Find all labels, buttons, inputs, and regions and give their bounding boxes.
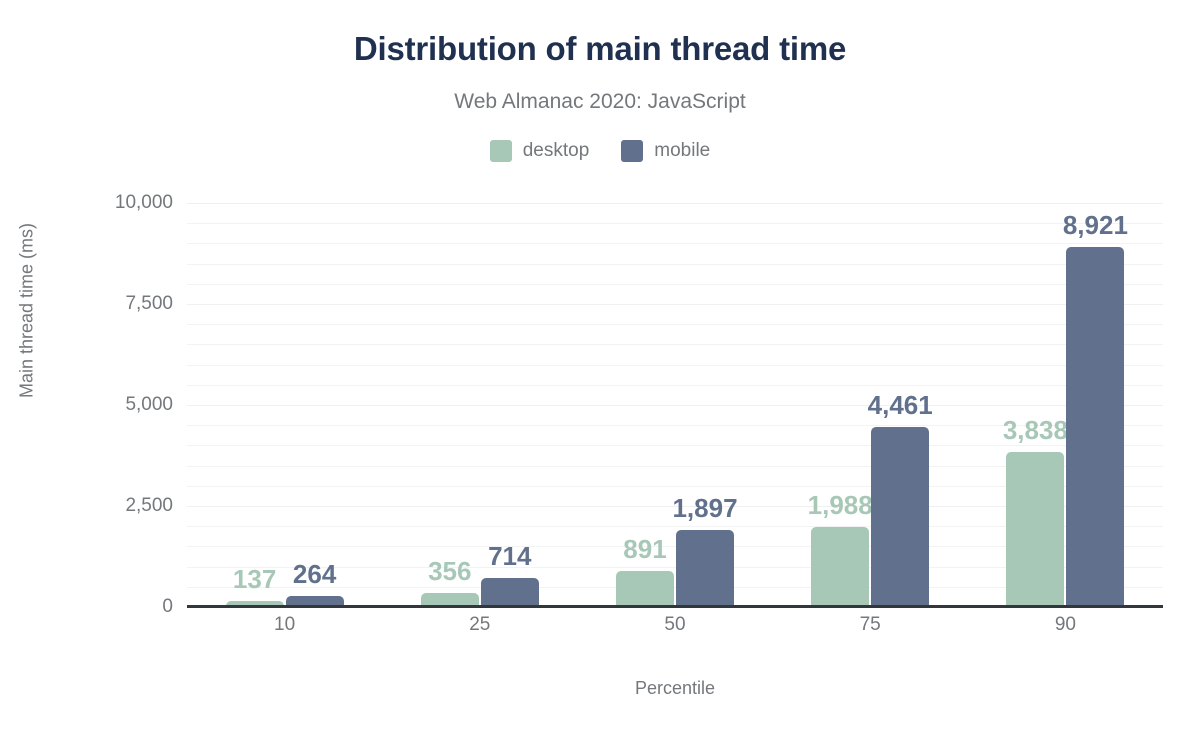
bar-label-mobile-75: 4,461 [868,390,933,421]
chart-title: Distribution of main thread time [0,30,1200,68]
bar-mobile-90[interactable] [1066,247,1124,607]
y-tick-label: 10,000 [115,192,173,214]
chart-subtitle: Web Almanac 2020: JavaScript [0,90,1200,114]
x-axis-title: Percentile [187,678,1163,699]
bar-group-25: 356714 [421,203,539,607]
x-tick-label-10: 10 [274,614,295,636]
bar-mobile-25[interactable] [481,578,539,607]
legend-item-mobile[interactable]: mobile [621,140,710,162]
bar-desktop-75[interactable] [811,527,869,607]
bar-group-75: 1,9884,461 [811,203,929,607]
legend-item-desktop[interactable]: desktop [490,140,590,162]
x-tick-label-50: 50 [664,614,685,636]
bar-desktop-50[interactable] [616,571,674,607]
legend-label: mobile [654,140,710,162]
legend-label: desktop [523,140,590,162]
bar-group-50: 8911,897 [616,203,734,607]
y-tick-label: 0 [162,596,173,618]
bar-desktop-90[interactable] [1006,452,1064,607]
bar-chart: Distribution of main thread time Web Alm… [0,0,1200,742]
bar-label-desktop-90: 3,838 [1003,415,1068,446]
x-axis-ticks: 1025507590 [187,614,1163,648]
bar-group-10: 137264 [226,203,344,607]
legend-swatch-mobile [621,140,643,162]
bar-label-desktop-25: 356 [428,556,471,587]
y-tick-label: 5,000 [125,394,173,416]
bar-group-90: 3,8388,921 [1006,203,1124,607]
x-tick-label-25: 25 [469,614,490,636]
bar-label-desktop-75: 1,988 [808,490,873,521]
x-tick-label-75: 75 [860,614,881,636]
y-tick-label: 2,500 [125,495,173,517]
bar-mobile-50[interactable] [676,530,734,607]
plot-area: 1372643567148911,8971,9884,4613,8388,921 [187,203,1163,607]
bar-label-mobile-10: 264 [293,559,336,590]
x-tick-label-90: 90 [1055,614,1076,636]
legend-swatch-desktop [490,140,512,162]
y-tick-label: 7,500 [125,293,173,315]
bar-label-mobile-25: 714 [488,541,531,572]
bar-label-desktop-10: 137 [233,564,276,595]
bar-label-desktop-50: 891 [623,534,666,565]
bar-mobile-75[interactable] [871,427,929,607]
y-axis-title: Main thread time (ms) [17,181,38,441]
chart-legend: desktopmobile [0,140,1200,162]
bar-label-mobile-50: 1,897 [672,493,737,524]
bar-label-mobile-90: 8,921 [1063,210,1128,241]
x-axis-line [187,605,1163,608]
